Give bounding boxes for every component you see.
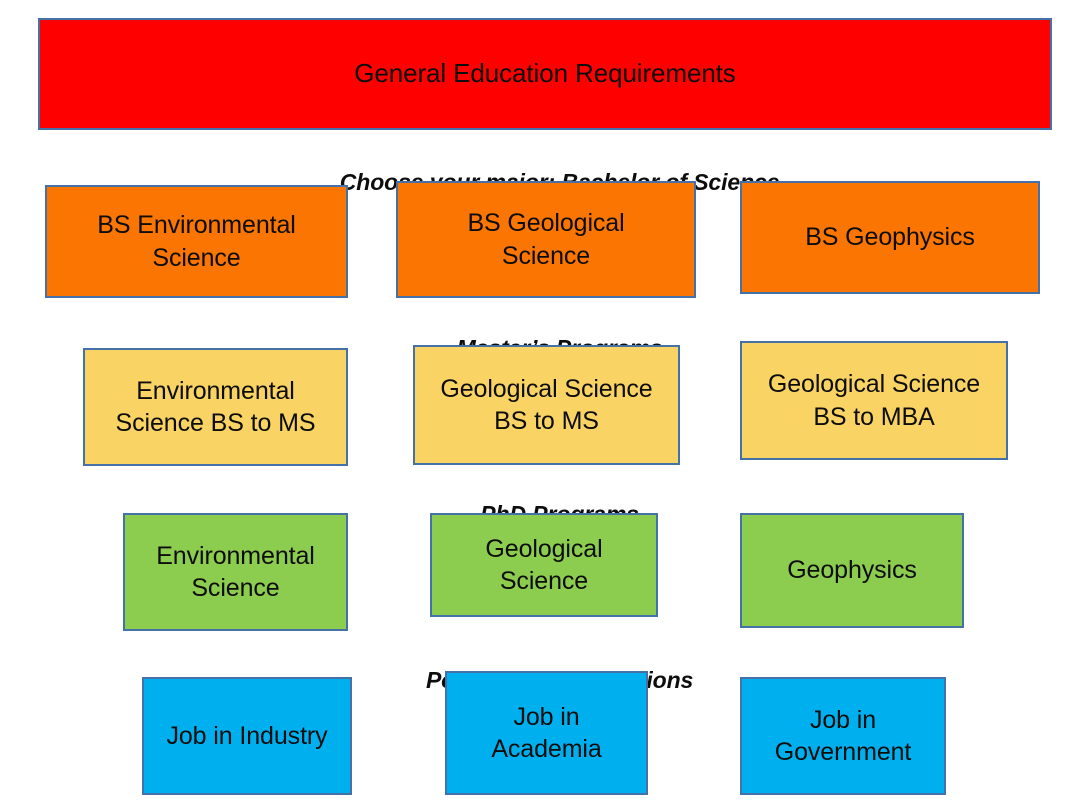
- node-label: Geological Science: [485, 533, 602, 598]
- node-label: Environmental Science: [156, 540, 315, 605]
- node-label: General Education Requirements: [354, 57, 735, 91]
- node-geological-science-bs-to-mba[interactable]: Geological Science BS to MBA: [740, 341, 1008, 460]
- node-environmental-science-bs-to-ms[interactable]: Environmental Science BS to MS: [83, 348, 348, 466]
- node-label: Job in Government: [775, 704, 912, 769]
- node-bs-environmental-science[interactable]: BS Environmental Science: [45, 185, 348, 298]
- diagram-canvas: General Education Requirements Choose yo…: [0, 0, 1089, 812]
- node-label: BS Geological Science: [467, 207, 624, 272]
- node-general-education-requirements[interactable]: General Education Requirements: [38, 18, 1052, 130]
- node-bs-geophysics[interactable]: BS Geophysics: [740, 181, 1040, 294]
- node-phd-geophysics[interactable]: Geophysics: [740, 513, 964, 628]
- node-label: Job in Academia: [491, 701, 601, 766]
- node-label: BS Geophysics: [805, 221, 975, 254]
- node-label: Geophysics: [787, 554, 917, 587]
- node-geological-science-bs-to-ms[interactable]: Geological Science BS to MS: [413, 345, 680, 465]
- node-label: BS Environmental Science: [97, 209, 296, 274]
- node-job-in-government[interactable]: Job in Government: [740, 677, 946, 795]
- node-label: Environmental Science BS to MS: [116, 375, 316, 440]
- node-bs-geological-science[interactable]: BS Geological Science: [396, 181, 696, 298]
- node-label: Job in Industry: [166, 720, 327, 753]
- node-phd-environmental-science[interactable]: Environmental Science: [123, 513, 348, 631]
- node-job-in-academia[interactable]: Job in Academia: [445, 671, 648, 795]
- node-job-in-industry[interactable]: Job in Industry: [142, 677, 352, 795]
- node-label: Geological Science BS to MBA: [768, 368, 980, 433]
- node-phd-geological-science[interactable]: Geological Science: [430, 513, 658, 617]
- node-label: Geological Science BS to MS: [440, 373, 652, 438]
